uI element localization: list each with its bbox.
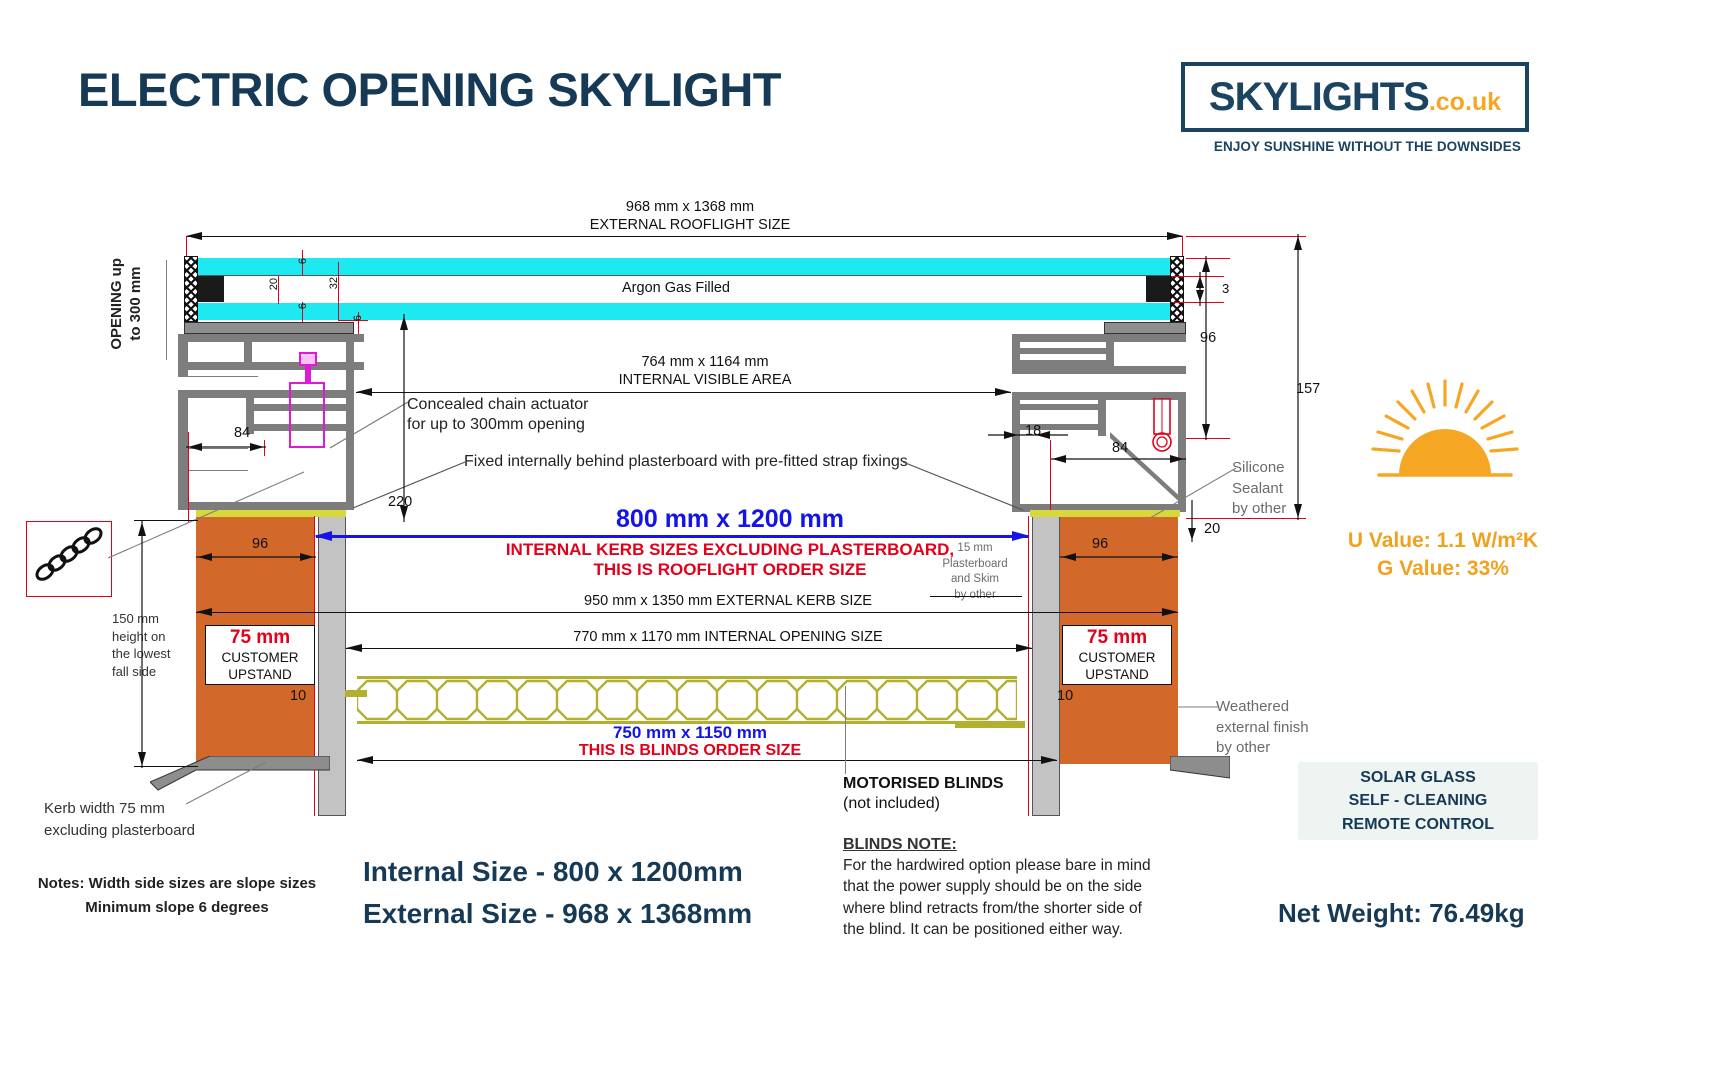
frame-sash-left-bottom bbox=[188, 362, 364, 370]
customer-upstand-left: 75 mm CUSTOMER UPSTAND bbox=[205, 625, 315, 685]
dim-label-6-top: 6 bbox=[297, 258, 309, 264]
blinds-dim-arrowheads bbox=[357, 754, 1057, 767]
blinds-note-title: BLINDS NOTE: bbox=[843, 836, 957, 854]
blinds-order-size-value: 750 mm x 1150 mm bbox=[490, 723, 890, 743]
dim-ext-32 bbox=[338, 262, 339, 320]
frame-outer-left-top bbox=[178, 390, 353, 398]
plasterboard-note-line1: 15 mm bbox=[925, 541, 1025, 557]
frame-sash-right-rail2 bbox=[1020, 360, 1110, 366]
frame-sash-left-body bbox=[178, 342, 188, 376]
dim-label-10-left: 10 bbox=[290, 688, 306, 704]
opening-label-line1: OPENING up bbox=[108, 258, 125, 350]
chain-actuator-body bbox=[289, 382, 325, 448]
motorised-blinds-sublabel: (not included) bbox=[843, 795, 940, 813]
plasterboard-note-line3: and Skim bbox=[925, 572, 1025, 588]
glazing-seal-right bbox=[1146, 276, 1170, 302]
motorised-blinds-leader bbox=[845, 686, 846, 774]
features-panel: SOLAR GLASS SELF - CLEANING REMOTE CONTR… bbox=[1298, 762, 1538, 840]
argon-gas-label: Argon Gas Filled bbox=[622, 280, 730, 296]
net-weight-label: Net Weight: 76.49kg bbox=[1278, 898, 1525, 929]
dim-arrow-96 bbox=[1196, 256, 1216, 440]
dim-label-84-left: 84 bbox=[234, 425, 250, 441]
g-value-text: G Value: 33% bbox=[1318, 555, 1568, 583]
upstand-right-line2: UPSTAND bbox=[1063, 667, 1171, 684]
frame-sash-right-rail bbox=[1020, 348, 1110, 354]
internal-visible-value: 764 mm x 1164 mm bbox=[555, 354, 855, 370]
external-kerb-arrowheads bbox=[196, 606, 1178, 619]
opening-label-line2: to 300 mm bbox=[127, 267, 144, 341]
blinds-note-line4: the blind. It can be positioned either w… bbox=[843, 919, 1203, 940]
upstand-right-value: 75 mm bbox=[1063, 626, 1171, 650]
frame-bedding-right bbox=[1104, 322, 1186, 334]
dim-arrow-157 bbox=[1288, 234, 1308, 520]
external-size-summary: External Size - 968 x 1368mm bbox=[363, 898, 752, 930]
actuator-note-line1: Concealed chain actuator bbox=[407, 396, 588, 414]
feature-remote-control: REMOTE CONTROL bbox=[1342, 813, 1494, 836]
dim-label-20-right: 20 bbox=[1204, 521, 1220, 537]
internal-size-summary: Internal Size - 800 x 1200mm bbox=[363, 856, 743, 888]
kerb-width-note-line1: Kerb width 75 mm bbox=[44, 798, 195, 820]
sun-icon bbox=[1365, 375, 1525, 495]
dim-label-157: 157 bbox=[1296, 381, 1320, 397]
general-notes: Notes: Width side sizes are slope sizes … bbox=[22, 872, 332, 920]
dim-arrow-84-left bbox=[186, 440, 266, 454]
silicone-note-line2: Sealant bbox=[1232, 479, 1286, 500]
glazing-spacer-left bbox=[184, 256, 198, 322]
feature-self-cleaning: SELF - CLEANING bbox=[1349, 789, 1488, 812]
kerb-width-note: Kerb width 75 mm excluding plasterboard bbox=[44, 798, 195, 842]
silicone-note-line3: by other bbox=[1232, 499, 1286, 520]
dim-arrow-96-right bbox=[1060, 550, 1178, 564]
blinds-note-body: For the hardwired option please bare in … bbox=[843, 855, 1203, 941]
glazing-seal-left bbox=[198, 276, 224, 302]
fall-height-ext-top bbox=[134, 520, 198, 521]
dim-label-20: 20 bbox=[268, 278, 280, 290]
plasterboard-note-underline bbox=[930, 596, 1022, 597]
glazing-spacer-right bbox=[1170, 256, 1184, 322]
frame-sash-right-top bbox=[1012, 334, 1186, 342]
dim-arrow-18 bbox=[988, 428, 1068, 442]
actuator-arm-right bbox=[1146, 398, 1194, 458]
fall-height-dim-arrow bbox=[134, 520, 150, 768]
weathered-note-line2: external finish bbox=[1216, 718, 1309, 739]
u-value-text: U Value: 1.1 W/m²K bbox=[1318, 527, 1568, 555]
upstand-right-line1: CUSTOMER bbox=[1063, 650, 1171, 667]
opening-leader-line bbox=[166, 260, 167, 360]
plasterboard-note: 15 mm Plasterboard and Skim by other bbox=[925, 541, 1025, 603]
plasterboard-note-line2: Plasterboard bbox=[925, 557, 1025, 573]
chain-actuator-stem bbox=[305, 366, 311, 382]
customer-upstand-right: 75 mm CUSTOMER UPSTAND bbox=[1062, 625, 1172, 685]
blinds-note-line2: that the power supply should be on the s… bbox=[843, 876, 1203, 897]
general-notes-line2: Minimum slope 6 degrees bbox=[22, 896, 332, 920]
arrowheads-external-rooflight bbox=[186, 230, 1183, 243]
chain-detail-box bbox=[26, 521, 112, 597]
upstand-left-value: 75 mm bbox=[206, 626, 314, 650]
blinds-note-line1: For the hardwired option please bare in … bbox=[843, 855, 1203, 876]
silicone-leader-line bbox=[1150, 468, 1236, 520]
frame-bedding-left bbox=[184, 322, 354, 334]
dim-label-96-right-top: 96 bbox=[1200, 330, 1216, 346]
upstand-left-line2: UPSTAND bbox=[206, 667, 314, 684]
chain-actuator-head bbox=[299, 352, 317, 366]
frame-outer-right-rail bbox=[1020, 404, 1100, 410]
frame-sash-right-bottom bbox=[1012, 366, 1186, 374]
feature-solar-glass: SOLAR GLASS bbox=[1360, 766, 1476, 789]
dim-label-32: 32 bbox=[328, 277, 340, 289]
dim-label-6-bot: 6 bbox=[352, 315, 364, 321]
weathered-leader-line bbox=[1178, 702, 1218, 712]
weathered-finish-note: Weathered external finish by other bbox=[1216, 697, 1309, 759]
opening-label: OPENING up to 300 mm bbox=[108, 258, 146, 350]
performance-values: U Value: 1.1 W/m²K G Value: 33% bbox=[1318, 527, 1568, 584]
silicone-note-line1: Silicone bbox=[1232, 458, 1286, 479]
frame-left-detail-1 bbox=[178, 376, 258, 377]
blind-rail-right bbox=[955, 721, 1025, 728]
upstand-left-line1: CUSTOMER bbox=[206, 650, 314, 667]
motorised-blinds-label: MOTORISED BLINDS bbox=[843, 775, 1004, 793]
actuator-note-line2: for up to 300mm opening bbox=[407, 416, 585, 434]
external-rooflight-size-value: 968 mm x 1368 mm bbox=[540, 199, 840, 215]
kerb-width-leader bbox=[186, 762, 276, 806]
blinds-note-line3: where blind retracts from/the shorter si… bbox=[843, 898, 1203, 919]
strap-fixings-note: Fixed internally behind plasterboard wit… bbox=[464, 453, 908, 471]
dim-label-10-right: 10 bbox=[1057, 688, 1073, 704]
dim-label-6-mid: 6 bbox=[297, 303, 309, 309]
glass-pane-inner bbox=[196, 303, 1172, 320]
frame-sash-left-top bbox=[178, 334, 364, 342]
dim-arrow-220 bbox=[396, 314, 412, 522]
kerb-width-note-line2: excluding plasterboard bbox=[44, 820, 195, 842]
glass-pane-outer bbox=[196, 258, 1172, 275]
blind-rail-left bbox=[345, 690, 367, 697]
dim-label-3: 3 bbox=[1222, 281, 1229, 296]
silicone-sealant-note: Silicone Sealant by other bbox=[1232, 458, 1286, 520]
motorised-blind-honeycomb bbox=[357, 676, 1017, 724]
weathered-note-line3: by other bbox=[1216, 738, 1309, 759]
weathered-note-line1: Weathered bbox=[1216, 697, 1309, 718]
dim-arrow-84-right bbox=[1050, 452, 1186, 466]
internal-opening-arrowheads bbox=[346, 642, 1032, 655]
frame-sash-left-web bbox=[244, 342, 252, 364]
roof-slope-right bbox=[1170, 756, 1230, 782]
general-notes-line1: Notes: Width side sizes are slope sizes bbox=[22, 872, 332, 896]
